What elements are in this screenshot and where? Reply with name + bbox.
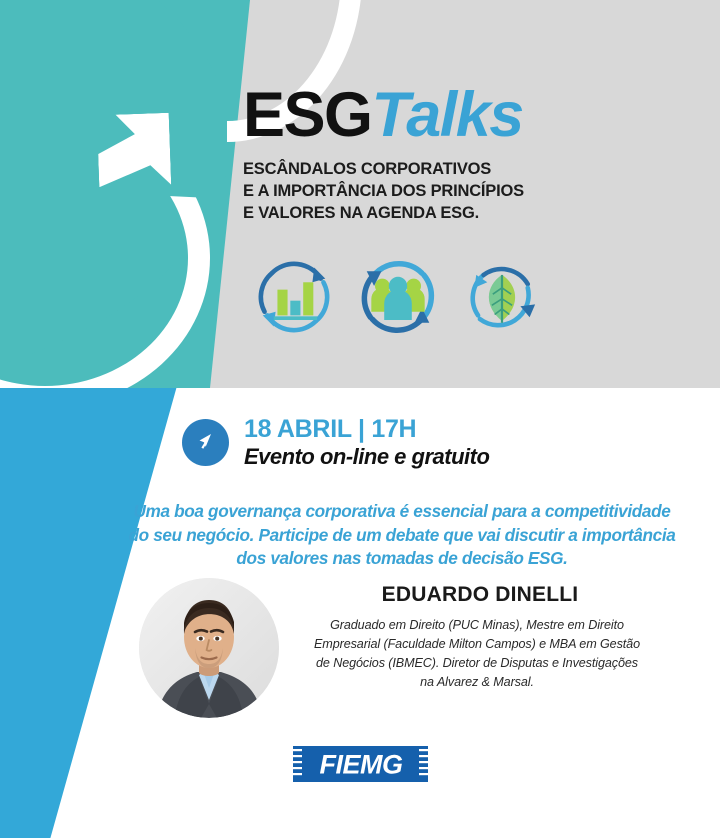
subtitle-line: ESCÂNDALOS CORPORATIVOS	[243, 159, 663, 181]
speaker-bio-line: Empresarial (Faculdade Milton Campos) e …	[292, 635, 662, 654]
speaker-bio-line: na Alvarez & Marsal.	[292, 673, 662, 692]
title-accent-text: Talks	[372, 80, 523, 150]
fiemg-logo-graphic: FIEMG	[283, 746, 438, 782]
lead-paragraph: Uma boa governança corporativa é essenci…	[128, 500, 676, 571]
event-format: Evento on-line e gratuito	[244, 444, 489, 469]
title-block: ESGTalks ESCÂNDALOS CORPORATIVOS E A IMP…	[243, 84, 663, 224]
speaker-portrait-illustration	[139, 578, 279, 718]
event-date-text-group: 18 ABRIL | 17H Evento on-line e gratuito	[244, 415, 489, 470]
event-poster: ESGTalks ESCÂNDALOS CORPORATIVOS E A IMP…	[0, 0, 720, 838]
lead-line: dos valores nas tomadas de decisão ESG.	[128, 547, 676, 571]
event-date-block: 18 ABRIL | 17H Evento on-line e gratuito	[182, 415, 489, 470]
bar-chart-cycle-icon	[248, 249, 340, 345]
subtitle-line: E VALORES NA AGENDA ESG.	[243, 203, 663, 225]
title-main-text: ESG	[243, 80, 372, 150]
speaker-bio: Graduado em Direito (PUC Minas), Mestre …	[292, 616, 662, 692]
subtitle-line: E A IMPORTÂNCIA DOS PRINCÍPIOS	[243, 181, 663, 203]
fiemg-logo-text: FIEMG	[320, 750, 403, 780]
cursor-pointer-icon	[182, 419, 229, 466]
event-date: 18 ABRIL | 17H	[244, 416, 489, 442]
fiemg-logo: FIEMG	[283, 746, 438, 782]
speaker-name: EDUARDO DINELLI	[300, 583, 660, 607]
lead-line: Uma boa governança corporativa é essenci…	[128, 500, 676, 524]
people-cycle-icon	[352, 249, 444, 345]
lead-line: do seu negócio. Participe de um debate q…	[128, 524, 676, 548]
speaker-bio-line: Graduado em Direito (PUC Minas), Mestre …	[292, 616, 662, 635]
cursor-pointer-glyph	[194, 430, 218, 454]
page-title: ESGTalks	[243, 84, 663, 147]
speaker-avatar	[139, 578, 279, 718]
speaker-bio-line: de Negócios (IBMEC). Diretor de Disputas…	[292, 654, 662, 673]
esg-pillars-icon-row	[248, 247, 548, 347]
subtitle: ESCÂNDALOS CORPORATIVOS E A IMPORTÂNCIA …	[243, 159, 663, 224]
leaf-cycle-icon	[456, 249, 548, 345]
